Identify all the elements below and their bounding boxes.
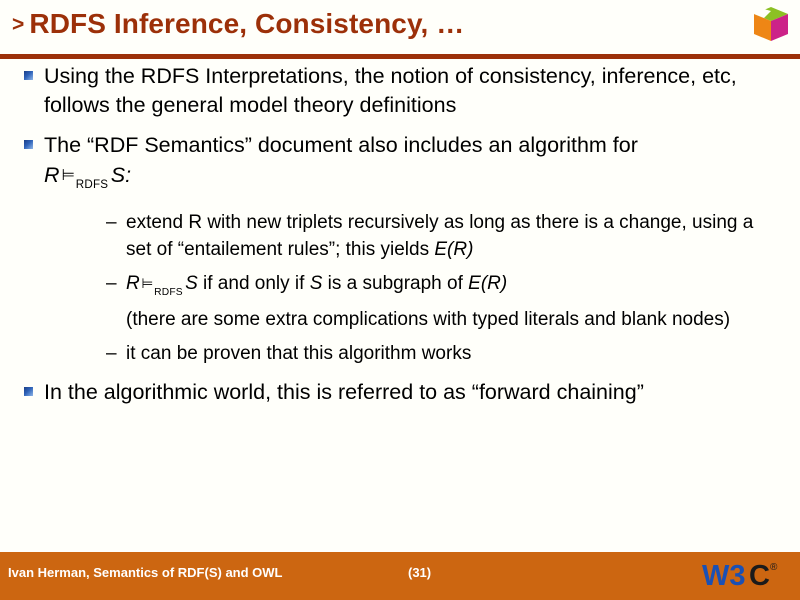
blue-square-bullet-icon — [24, 140, 33, 149]
math-subscript: RDFS — [76, 178, 108, 191]
math-rhs: S — [185, 273, 198, 294]
svg-text:C: C — [749, 560, 770, 590]
entails-symbol-icon: ⊨ — [141, 276, 153, 292]
blue-square-bullet-icon — [24, 387, 33, 396]
footer-author-title: Ivan Herman, Semantics of RDF(S) and OWL — [8, 565, 283, 580]
sub-bullet-continuation: (there are some extra complications with… — [126, 306, 756, 333]
dash-bullet-icon: – — [106, 270, 117, 297]
footer-page-number: (31) — [408, 565, 431, 580]
bullet-text: In the algorithmic world, this is referr… — [44, 380, 644, 404]
sub-bullet-item: – extend R with new triplets recursively… — [44, 209, 780, 263]
bullet-text: Using the RDFS Interpretations, the noti… — [44, 64, 737, 117]
bullet-item: Using the RDFS Interpretations, the noti… — [0, 62, 800, 120]
sub-bullet-text: if and only if — [198, 273, 310, 294]
bullet-text: The “RDF Semantics” document also includ… — [44, 133, 638, 157]
svg-text:®: ® — [770, 562, 778, 573]
w3c-cube-logo-icon — [752, 4, 790, 44]
sub-bullet-item: – it can be proven that this algorithm w… — [44, 340, 780, 367]
w3c-logo-icon: W3 C ® — [702, 560, 786, 590]
math-lhs: R — [44, 163, 60, 187]
entailment-expression: R⊨RDFSS: — [44, 160, 780, 200]
entails-symbol-icon: ⊨ — [61, 166, 74, 184]
math-lhs: R — [126, 273, 140, 294]
page-title-text: RDFS Inference, Consistency, … — [29, 8, 464, 39]
dash-bullet-icon: – — [106, 340, 117, 367]
slide: >RDFS Inference, Consistency, … Using th… — [0, 0, 800, 600]
math-subscript: RDFS — [154, 287, 183, 298]
chevron-prefix-icon: > — [12, 13, 24, 36]
math-rhs: S: — [111, 163, 131, 187]
sub-bullet-italic: S — [310, 273, 323, 294]
title-divider — [0, 54, 800, 59]
sub-bullet-list: – extend R with new triplets recursively… — [44, 209, 780, 367]
sub-bullet-italic: E(R) — [434, 239, 473, 260]
entailment-expression: R⊨RDFSS — [126, 270, 198, 306]
sub-bullet-item: – R⊨RDFSS if and only if S is a subgraph… — [44, 270, 780, 333]
sub-bullet-text: it can be proven that this algorithm wor… — [126, 343, 471, 364]
svg-text:W3: W3 — [702, 560, 746, 590]
sub-bullet-italic-2: E(R) — [468, 273, 507, 294]
slide-body: Using the RDFS Interpretations, the noti… — [0, 62, 800, 542]
dash-bullet-icon: – — [106, 209, 117, 236]
bullet-item: In the algorithmic world, this is referr… — [0, 378, 800, 407]
page-title: >RDFS Inference, Consistency, … — [12, 8, 464, 40]
sub-bullet-text-2: is a subgraph of — [322, 273, 468, 294]
slide-footer: Ivan Herman, Semantics of RDF(S) and OWL… — [0, 552, 800, 600]
blue-square-bullet-icon — [24, 71, 33, 80]
slide-header: >RDFS Inference, Consistency, … — [0, 0, 800, 56]
bullet-item: The “RDF Semantics” document also includ… — [0, 131, 800, 367]
